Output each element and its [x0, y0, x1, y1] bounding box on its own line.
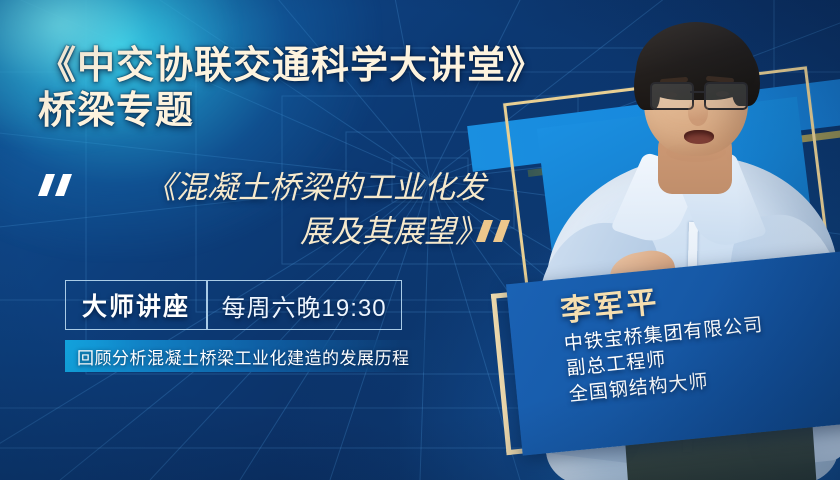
eyeglass-bridge	[690, 91, 704, 93]
speaker-panel-background: 李军平 中铁宝桥集团有限公司 副总工程师 全国钢结构大师	[506, 250, 840, 456]
speaker-info-panel: 李军平 中铁宝桥集团有限公司 副总工程师 全国钢结构大师	[490, 251, 840, 465]
title-line-1: 《中交协联交通科学大讲堂》	[38, 45, 545, 87]
title-line-2: 桥梁专题	[38, 89, 558, 134]
lecture-topic-quote: 《混凝土桥梁的工业化发 展及其展望》	[34, 166, 544, 276]
lecture-poster: 《中交协联交通科学大讲堂》 桥梁专题 《混凝土桥梁的工业化发 展及其展望》 大师…	[0, 0, 840, 480]
eyeglass-lens-right	[704, 82, 748, 110]
page-title: 《中交协联交通科学大讲堂》 桥梁专题	[38, 44, 558, 134]
eyeglass-lens-left	[650, 82, 694, 110]
portrait-chin-shadow	[666, 142, 726, 162]
lecture-schedule-row: 大师讲座 每周六晚19:30	[65, 280, 402, 330]
subtitle-text: 回顾分析混凝土桥梁工业化建造的发展历程	[77, 344, 410, 369]
subtitle-bar: 回顾分析混凝土桥梁工业化建造的发展历程	[65, 340, 473, 372]
speaker-affiliation-list: 中铁宝桥集团有限公司 副总工程师 全国钢结构大师	[563, 313, 769, 408]
quote-text: 《混凝土桥梁的工业化发 展及其展望》	[86, 166, 486, 254]
close-quote-icon	[478, 220, 514, 242]
portrait-nose	[688, 100, 708, 126]
lecture-badge: 大师讲座	[66, 281, 206, 329]
quote-line-1: 《混凝土桥梁的工业化发	[86, 166, 486, 210]
quote-line-2: 展及其展望》	[86, 210, 486, 254]
lecture-time: 每周六晚19:30	[208, 281, 401, 329]
open-quote-icon	[40, 174, 76, 196]
